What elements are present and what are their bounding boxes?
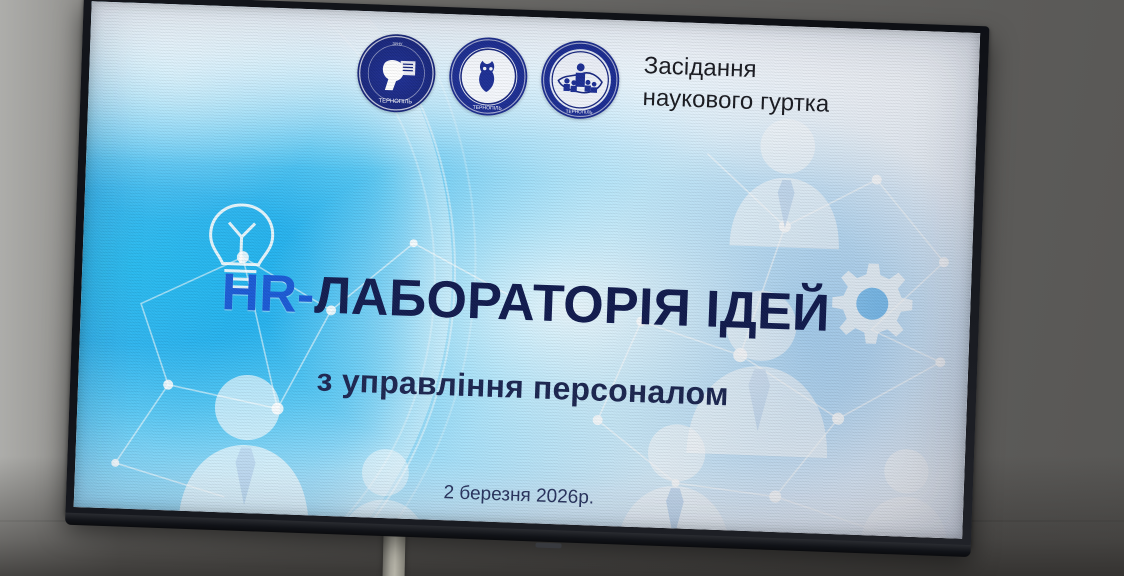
ternopil-national-university-emblem: ТЕРНОПІЛЬ ЗУНУ [356, 33, 437, 114]
owl-faculty-emblem: ТЕРНОПІЛЬ [448, 36, 529, 117]
header-title-text: Засідання наукового гуртка [642, 50, 831, 120]
header-line-2: наукового гуртка [642, 82, 830, 120]
presentation-slide: ТЕРНОПІЛЬ ЗУНУ [74, 1, 981, 538]
tv-screen: ТЕРНОПІЛЬ ЗУНУ [74, 1, 981, 538]
svg-text:ТЕРНОПІЛЬ: ТЕРНОПІЛЬ [566, 109, 593, 115]
svg-text:ЗУНУ: ЗУНУ [392, 41, 403, 46]
svg-text:ТЕРНОПІЛЬ: ТЕРНОПІЛЬ [378, 98, 412, 105]
tv-brand-logo [536, 543, 562, 549]
photo-scene: ТЕРНОПІЛЬ ЗУНУ [0, 0, 1124, 576]
svg-text:ТЕРНОПІЛЬ: ТЕРНОПІЛЬ [473, 105, 503, 112]
title-accent-hr: HR- [221, 263, 316, 324]
ukraine-map-emblem: ТЕРНОПІЛЬ [540, 39, 621, 120]
wall-mounted-television: ТЕРНОПІЛЬ ЗУНУ [65, 0, 989, 548]
